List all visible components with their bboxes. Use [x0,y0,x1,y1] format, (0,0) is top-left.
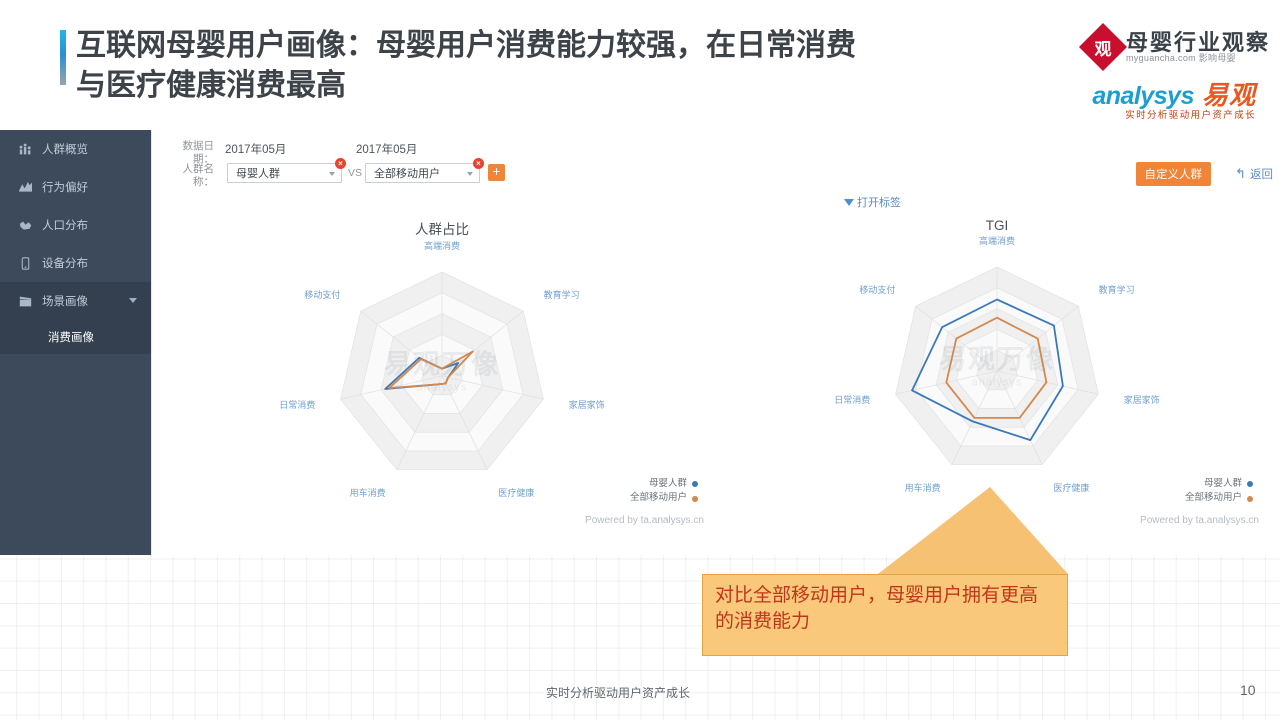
crowd-select-1[interactable]: 母婴人群 [227,163,342,183]
sidebar-item-label: 设备分布 [42,255,88,271]
analysys-tagline: 实时分析驱动用户资产成长 [1092,111,1256,121]
guancha-name-cn: 母婴行业观察 [1126,31,1270,54]
svg-text:日常消费: 日常消费 [279,399,315,410]
guancha-mark-text: 观 [1094,35,1111,60]
title-accent-bar [60,30,66,85]
legend-item[interactable]: 母婴人群 [630,477,698,492]
mobile-device-icon [18,256,32,270]
open-tag-button[interactable]: 打开标签 [844,194,901,210]
sidebar-item-renqun-gailan[interactable]: 人群概览 [0,130,151,168]
page-title: 互联网母婴用户画像：母婴用户消费能力较强，在日常消费 与医疗健康消费最高 [76,26,1076,105]
svg-text:家居家饰: 家居家饰 [1124,394,1160,405]
chart-legend: 母婴人群 全部移动用户 [630,477,698,506]
guancha-name-en: myguancha.com 影响母婴 [1126,54,1270,63]
remove-crowd-1-button[interactable]: × [335,158,346,169]
legend-label: 母婴人群 [1204,477,1242,492]
guancha-logo: 观 母婴行业观察 myguancha.com 影响母婴 [1086,30,1270,64]
date-value-2: 2017年05月 [356,141,417,157]
sidebar-item-changjing-huaxiang[interactable]: 场景画像 [0,282,151,320]
svg-text:医疗健康: 医疗健康 [498,487,534,498]
radar-plot-area: 高端消费教育学习家居家饰医疗健康用车消费日常消费移动支付 易观万像 analys… [162,238,722,508]
radar-svg: 高端消费教育学习家居家饰医疗健康用车消费日常消费移动支付 [162,238,722,508]
callout-text: 对比全部移动用户，母婴用户拥有更高的消费能力 [703,575,1067,634]
legend-item[interactable]: 母婴人群 [1185,477,1253,492]
slide-page-number: 10 [1240,682,1256,698]
sidebar-item-label: 人口分布 [42,217,88,233]
sidebar-item-shebei-fenbu[interactable]: 设备分布 [0,244,151,282]
trend-line-icon [18,180,32,194]
analysys-logo: analysys 易观 实时分析驱动用户资产成长 [1092,82,1256,121]
back-button[interactable]: ↰ 返回 [1235,166,1273,182]
svg-text:用车消费: 用车消费 [905,482,941,493]
chevron-down-icon [844,199,854,206]
powered-by-label: Powered by ta.analysys.cn [1140,515,1259,526]
sidebar-item-renkou-fenbu[interactable]: 人口分布 [0,206,151,244]
legend-label: 全部移动用户 [630,491,687,506]
chevron-down-icon [467,172,473,176]
sidebar-item-label: 人群概览 [42,141,88,157]
crowd-select-2[interactable]: 全部移动用户 [365,163,480,183]
chart-title: TGI [717,218,1277,233]
legend-color-dot [1247,481,1253,487]
svg-text:家居家饰: 家居家饰 [569,399,605,410]
crowd-select-1-value: 母婴人群 [236,165,280,181]
slide-footer-text: 实时分析驱动用户资产成长 [546,684,690,701]
guancha-diamond-icon: 观 [1079,23,1127,71]
sidebar-subitem-xiaofei-huaxiang[interactable]: 消费画像 [0,320,151,354]
sidebar-subitem-label: 消费画像 [48,329,94,345]
analysys-name-en: analysys [1092,83,1194,109]
content-pane: 数据日期： 人群名称： 2017年05月 2017年05月 母婴人群 × VS … [151,130,1280,555]
globe-icon [18,218,32,232]
legend-label: 全部移动用户 [1185,491,1242,506]
date-value-1: 2017年05月 [225,141,286,157]
analysys-name-cn: 易观 [1202,82,1256,109]
legend-color-dot [1247,496,1253,502]
open-tag-label: 打开标签 [857,194,901,210]
custom-crowd-button[interactable]: 自定义人群 [1136,162,1212,186]
svg-text:移动支付: 移动支付 [859,284,895,295]
callout-box: 对比全部移动用户，母婴用户拥有更高的消费能力 [702,574,1068,656]
powered-by-label: Powered by ta.analysys.cn [585,515,704,526]
legend-item[interactable]: 全部移动用户 [1185,491,1253,506]
svg-text:医疗健康: 医疗健康 [1053,482,1089,493]
radar-chart-tgi: TGI 高端消费教育学习家居家饰医疗健康用车消费日常消费移动支付 易观万像 an… [717,210,1277,550]
remove-crowd-2-button[interactable]: × [473,158,484,169]
people-chart-icon [18,142,32,156]
svg-text:移动支付: 移动支付 [304,289,340,300]
legend-label: 母婴人群 [649,477,687,492]
sidebar-item-label: 场景画像 [42,293,88,309]
chevron-down-icon[interactable] [129,298,137,303]
svg-text:用车消费: 用车消费 [350,487,386,498]
radar-chart-crowd-share: 人群占比 高端消费教育学习家居家饰医疗健康用车消费日常消费移动支付 易观万像 a… [162,210,722,550]
legend-color-dot [692,481,698,487]
sidebar-item-label: 行为偏好 [42,179,88,195]
svg-text:教育学习: 教育学习 [544,289,580,300]
chart-title: 人群占比 [162,218,722,238]
vs-separator: VS [348,167,362,179]
filter-toolbar: 数据日期： 人群名称： 2017年05月 2017年05月 母婴人群 × VS … [152,130,1280,185]
slide-header: 互联网母婴用户画像：母婴用户消费能力较强，在日常消费 与医疗健康消费最高 观 母… [0,0,1280,130]
analytics-app-window: 人群概览 行为偏好 人口分布 设备分布 场景画像 [0,130,1280,555]
crowd-label: 人群名称： [174,163,214,189]
radar-svg: 高端消费教育学习家居家饰医疗健康用车消费日常消费移动支付 [717,233,1277,503]
crowd-select-2-value: 全部移动用户 [374,165,440,181]
radar-plot-area: 高端消费教育学习家居家饰医疗健康用车消费日常消费移动支付 易观万像 analys… [717,233,1277,503]
back-button-label: 返回 [1250,166,1273,182]
svg-text:教育学习: 教育学习 [1099,284,1135,295]
back-arrow-icon: ↰ [1235,166,1246,182]
sidebar-item-xingwei-pianhao[interactable]: 行为偏好 [0,168,151,206]
add-crowd-button[interactable]: + [488,164,505,181]
sidebar: 人群概览 行为偏好 人口分布 设备分布 场景画像 [0,130,151,555]
chevron-down-icon [329,172,335,176]
svg-text:高端消费: 高端消费 [979,235,1015,246]
legend-item[interactable]: 全部移动用户 [630,491,698,506]
clapboard-icon [18,294,32,308]
svg-text:日常消费: 日常消费 [834,394,870,405]
legend-color-dot [692,496,698,502]
chart-legend: 母婴人群 全部移动用户 [1185,477,1253,506]
svg-text:高端消费: 高端消费 [424,240,460,251]
